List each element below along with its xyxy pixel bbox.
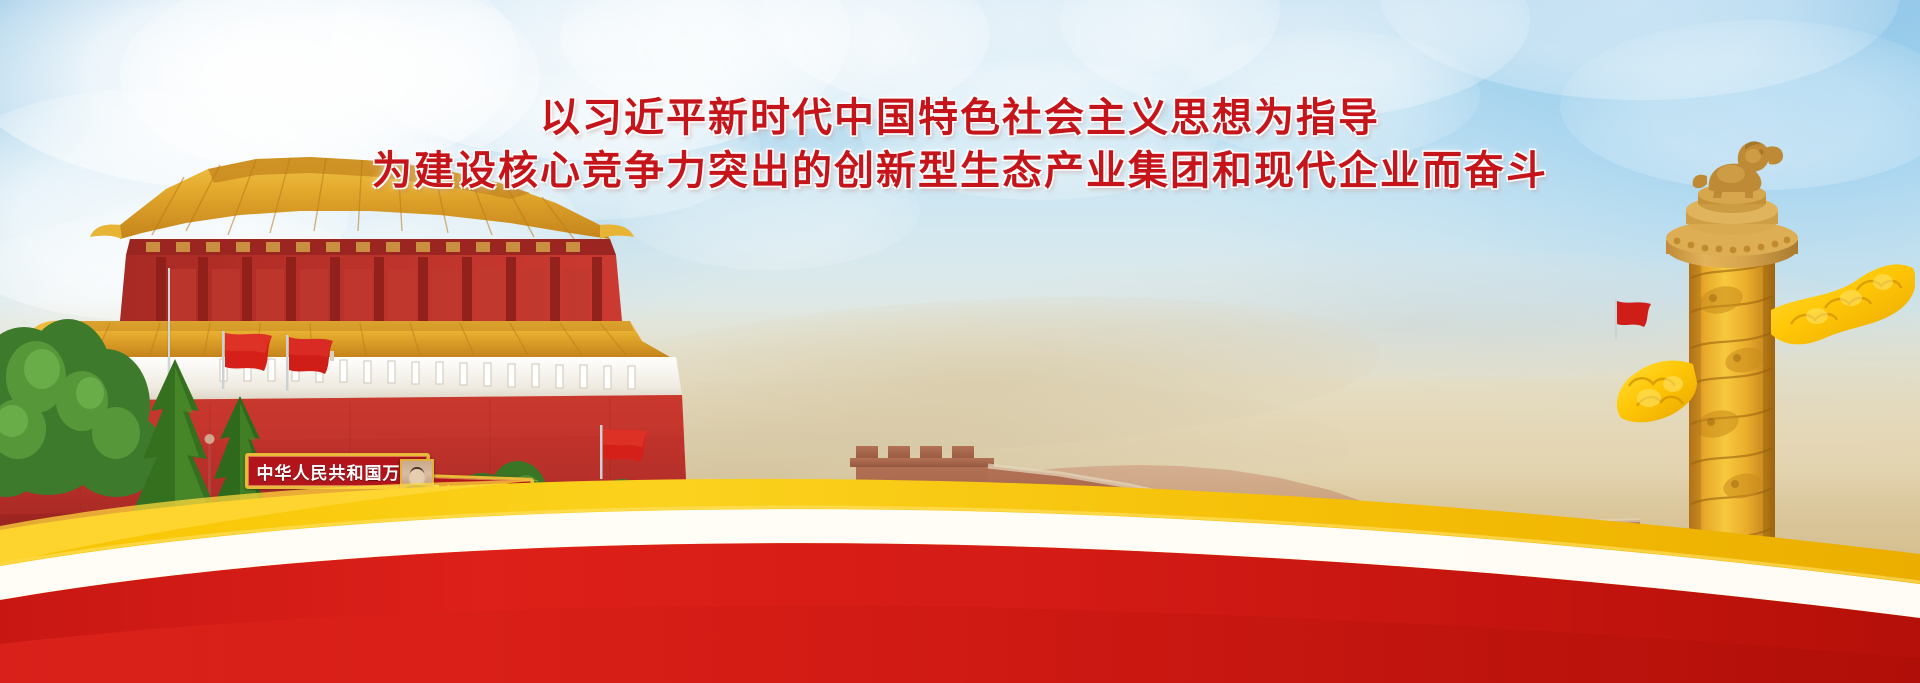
bottom-ribbon <box>0 468 1920 683</box>
title-line-1: 以习近平新时代中国特色社会主义思想为指导 <box>0 92 1920 145</box>
banner-title: 以习近平新时代中国特色社会主义思想为指导 为建设核心竞争力突出的创新型生态产业集… <box>0 92 1920 198</box>
red-flag <box>286 335 346 395</box>
red-flag <box>222 331 286 393</box>
banner-canvas: 中华人民共和国万岁 世界人民大团结万岁 <box>0 0 1920 683</box>
title-line-2: 为建设核心竞争力突出的创新型生态产业集团和现代企业而奋斗 <box>0 145 1920 198</box>
